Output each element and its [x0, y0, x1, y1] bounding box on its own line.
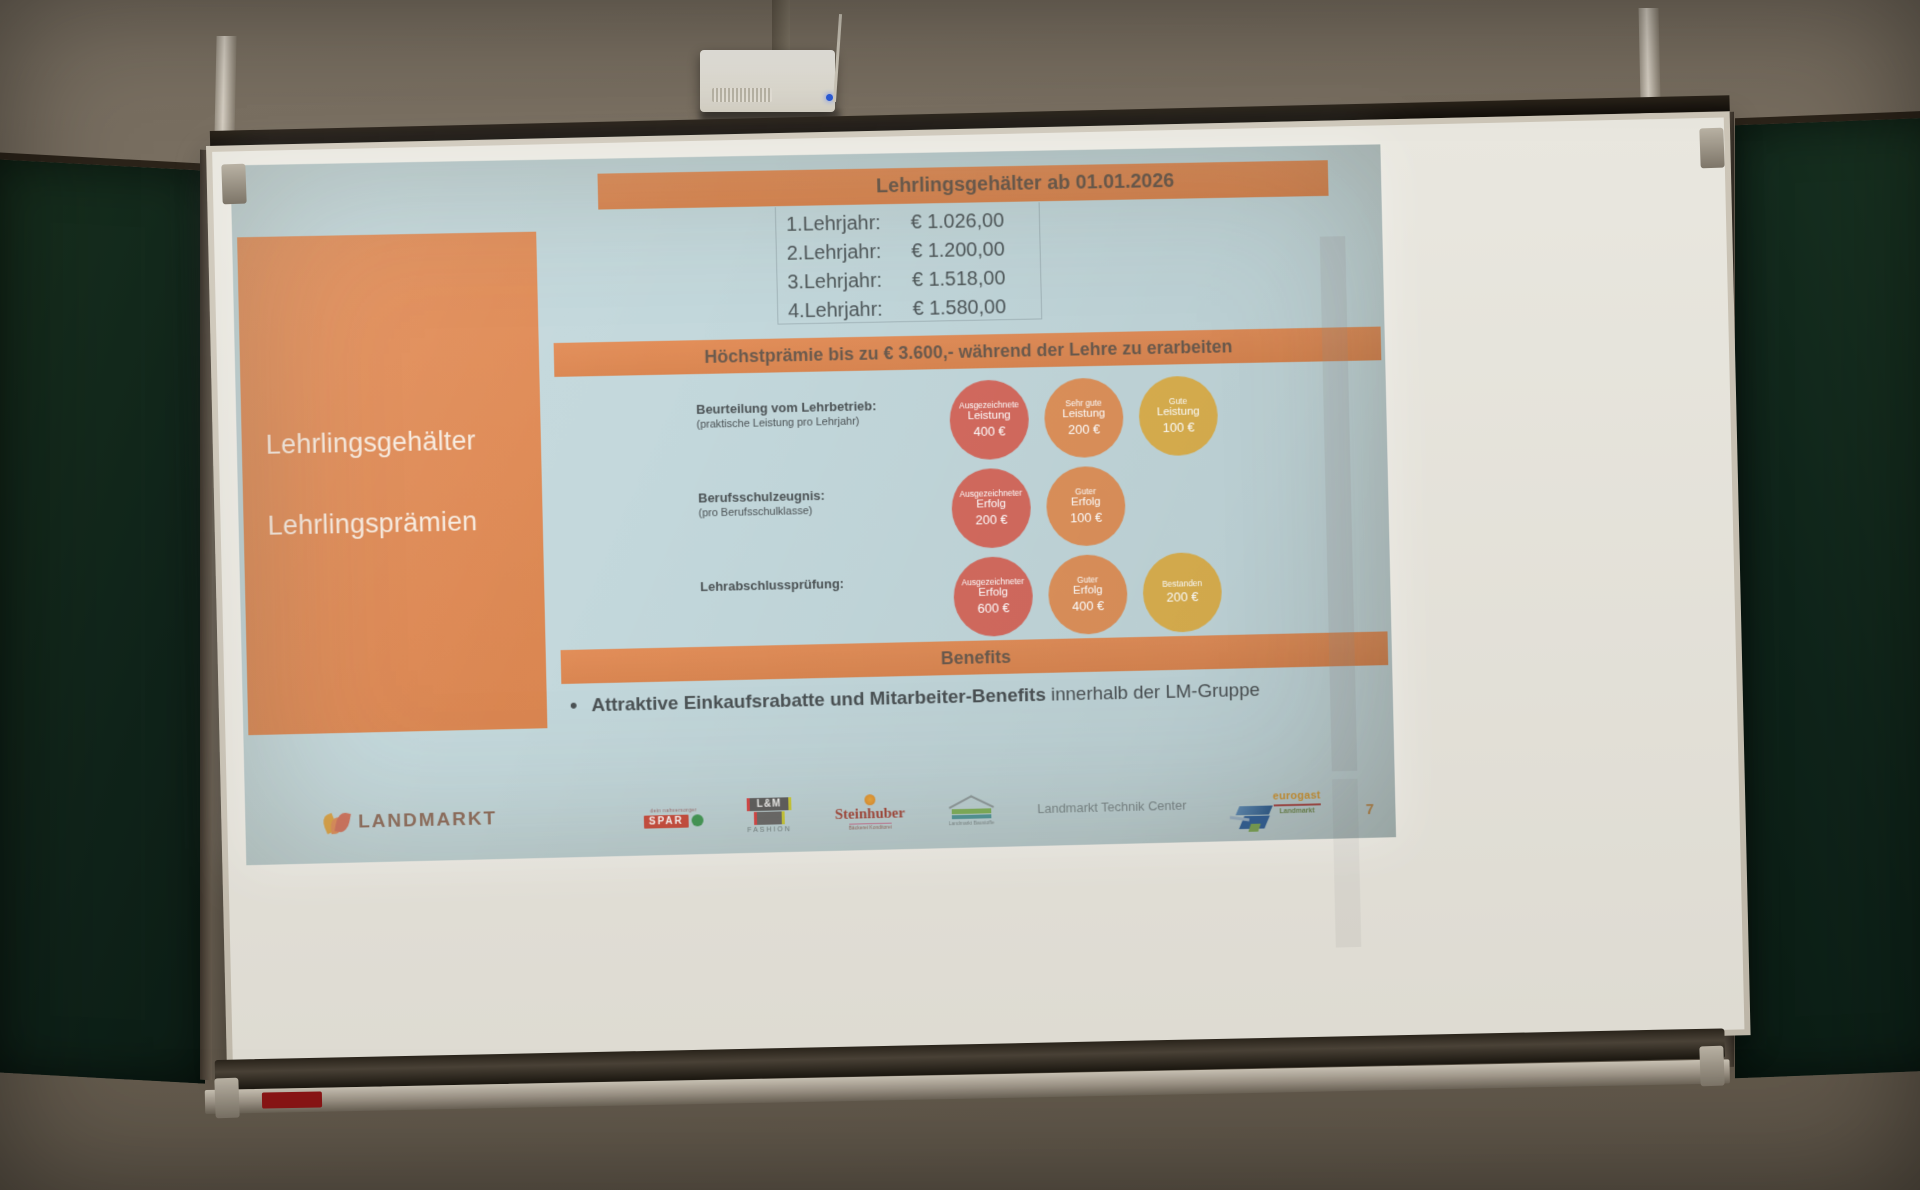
technik-center-wordmark: Landmarkt Technik Center	[1037, 798, 1186, 816]
slide-title-panel: Lehrlingsgehälter Lehrlingsprämien	[237, 232, 547, 736]
technik-center-logo: Landmarkt Technik Center	[1037, 798, 1186, 816]
salary-year-label: 2.Lehrjahr:	[786, 238, 909, 269]
award-grade-line-2: Erfolg	[976, 498, 1006, 512]
screen-clamp-bottom-right	[1699, 1046, 1724, 1087]
house-green-bar-icon	[951, 808, 991, 814]
leaf-icon	[325, 811, 351, 836]
projection-screen: Lehrlingsgehälter Lehrlingsprämien Lehrl…	[206, 111, 1751, 1069]
award-circle-group: Ausgezeichnete Leistung 400 € Sehr gute …	[949, 375, 1219, 460]
award-amount: 400 €	[1072, 599, 1104, 615]
award-amount: 600 €	[977, 601, 1009, 617]
award-circle: Ausgezeichneter Erfolg 200 €	[951, 468, 1032, 549]
salary-band-header: Lehrlingsgehälter ab 01.01.2026	[597, 160, 1328, 209]
screen-label-tab	[262, 1091, 322, 1108]
award-grade-line-2: Erfolg	[1071, 496, 1101, 510]
award-circle: Ausgezeichneter Erfolg 600 €	[953, 556, 1034, 637]
projector-power-led-icon	[826, 94, 833, 101]
partner-logo-strip: dein nahversorger SPAR L&M FASHION	[643, 784, 1321, 837]
eurogast-rule	[1273, 803, 1320, 806]
lm-fashion-logo: L&M FASHION	[747, 797, 792, 834]
slide-content: Lehrlingsgehälter ab 01.01.2026 1.Lehrja…	[548, 150, 1392, 853]
award-grade-line-2: Erfolg	[978, 587, 1008, 601]
award-amount: 100 €	[1070, 510, 1102, 526]
benefits-band-title: Benefits	[941, 646, 1012, 668]
award-grade-line-2: Leistung	[1157, 406, 1200, 420]
house-roof-icon	[949, 794, 993, 808]
premium-group-title: Lehrabschlussprüfung:	[700, 574, 948, 595]
lm-wordmark-shadow	[754, 811, 785, 825]
salary-band-title: Lehrlingsgehälter ab 01.01.2026	[876, 169, 1175, 197]
slide-title-line-1: Lehrlingsgehälter	[265, 424, 541, 461]
premium-group-label: Beurteilung vom Lehrbetrieb: (praktische…	[696, 397, 944, 433]
projector-mount-arm	[772, 0, 790, 52]
projection-hotspot-strip-lower	[1332, 779, 1361, 948]
benefits-bullet-text: Attraktive Einkaufsrabatte und Mitarbeit…	[591, 676, 1260, 721]
steinhuber-tagline: Bäckerei Konditorei	[849, 823, 892, 832]
ceiling-projector	[700, 50, 835, 112]
award-circle: Sehr gute Leistung 200 €	[1044, 377, 1125, 458]
award-circle-group: Ausgezeichneter Erfolg 600 € Guter Erfol…	[953, 552, 1223, 637]
screen-clamp-top-left	[221, 164, 246, 205]
projector-vent-icon	[712, 88, 772, 102]
award-circle: Guter Erfolg 400 €	[1048, 554, 1129, 635]
salary-year-value: € 1.026,00	[910, 206, 1029, 237]
award-amount: 200 €	[1068, 422, 1100, 437]
award-circle: Ausgezeichnete Leistung 400 €	[949, 379, 1030, 460]
slide-page-number: 7	[1366, 801, 1375, 818]
salary-year-value: € 1.580,00	[912, 293, 1031, 324]
steinhuber-logo: Steinhuber Bäckerei Konditorei	[834, 793, 905, 831]
presentation-slide: Lehrlingsgehälter Lehrlingsprämien Lehrl…	[230, 144, 1396, 865]
award-grade-line-2: Leistung	[1062, 408, 1105, 422]
award-amount: 100 €	[1162, 420, 1194, 435]
premium-band-title: Höchstprämie bis zu € 3.600,- während de…	[704, 336, 1233, 367]
premium-rows: Beurteilung vom Lehrbetrieb: (praktische…	[553, 370, 1388, 653]
lm-fashion-sub: FASHION	[747, 826, 791, 834]
premium-group-label: Lehrabschlussprüfung:	[700, 574, 948, 595]
award-amount: 200 €	[1166, 590, 1198, 606]
lm-wordmark: L&M	[747, 797, 792, 811]
salary-table: 1.Lehrjahr: € 1.026,00 2.Lehrjahr: € 1.2…	[775, 202, 1042, 324]
spar-logo: dein nahversorger SPAR	[644, 807, 704, 828]
award-grade-line-1: Guter	[1075, 487, 1096, 497]
premium-group-label: Berufsschulzeugnis: (pro Berufsschulklas…	[698, 485, 946, 521]
award-circle-group: Ausgezeichneter Erfolg 200 € Guter Erfol…	[951, 466, 1126, 549]
screen-clamp-bottom-left	[214, 1078, 239, 1119]
award-grade-line-1: Gute	[1169, 396, 1187, 406]
salary-year-label: 1.Lehrjahr:	[786, 209, 909, 240]
spar-green-dot-icon	[691, 814, 703, 826]
award-circle: Gute Leistung 100 €	[1138, 375, 1218, 456]
baustoffe-caption: Landmarkt Baustoffe	[949, 820, 995, 827]
sun-icon	[864, 794, 875, 805]
house-teal-bar-icon	[952, 814, 992, 819]
baustoffe-logo: Landmarkt Baustoffe	[948, 794, 994, 827]
salary-year-label: 3.Lehrjahr:	[787, 266, 910, 297]
eurogast-logo: eurogast Landmarkt	[1273, 789, 1322, 815]
spar-wordmark: SPAR	[644, 814, 689, 828]
salary-year-value: € 1.518,00	[912, 264, 1031, 295]
table-row: 4.Lehrjahr: € 1.580,00	[788, 293, 1032, 327]
award-amount: 400 €	[973, 424, 1005, 440]
slide-title-line-2: Lehrlingsprämien	[267, 505, 543, 542]
screen-clamp-top-right	[1699, 128, 1724, 169]
classroom-scene: Lehrlingsgehälter Lehrlingsprämien Lehrl…	[0, 0, 1920, 1190]
bullet-marker-icon: •	[569, 692, 577, 722]
chalkboard-left	[0, 152, 205, 1084]
benefits-bullet-bold: Attraktive Einkaufsrabatte und Mitarbeit…	[591, 685, 1046, 716]
spar-tagline: dein nahversorger	[650, 807, 697, 814]
award-grade-line-2: Erfolg	[1073, 585, 1103, 599]
award-grade-line-2: Leistung	[968, 410, 1011, 424]
salary-year-label: 4.Lehrjahr:	[788, 295, 911, 326]
landmarkt-logo: LANDMARKT	[325, 807, 497, 835]
eurogast-wordmark: eurogast	[1273, 789, 1321, 802]
landmarkt-wordmark: LANDMARKT	[358, 808, 497, 833]
table-row: 1.Lehrjahr: € 1.026,00	[786, 206, 1030, 239]
steinhuber-wordmark: Steinhuber	[835, 805, 905, 824]
award-amount: 200 €	[975, 512, 1007, 528]
table-row: 2.Lehrjahr: € 1.200,00	[786, 235, 1030, 268]
award-grade-line-1: Guter	[1077, 575, 1098, 585]
premium-band-header: Höchstprämie bis zu € 3.600,- während de…	[554, 327, 1382, 377]
benefits-bullet-rest: innerhalb der LM-Gruppe	[1046, 680, 1261, 706]
chalkboard-right	[1735, 110, 1920, 1078]
salary-year-value: € 1.200,00	[911, 235, 1030, 266]
eurogast-sub: Landmarkt	[1279, 807, 1314, 815]
award-circle: Bestanden 200 €	[1142, 552, 1222, 633]
award-circle: Guter Erfolg 100 €	[1046, 466, 1127, 547]
